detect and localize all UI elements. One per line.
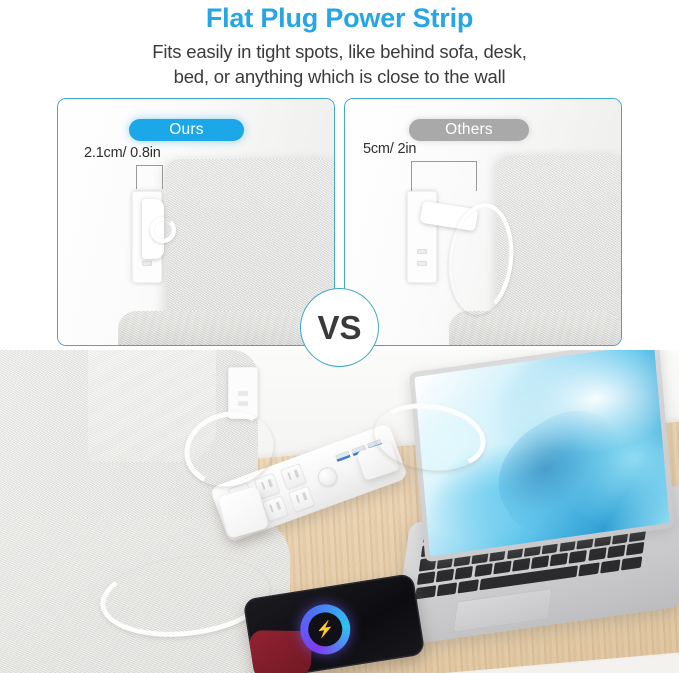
comparison-section: 2.1cm/ 0.8in Ours 5cm/ 2in Ot [0, 98, 679, 350]
usb-port [335, 451, 351, 462]
laptop-trackpad [453, 588, 552, 632]
wallpaper-swirl [479, 392, 643, 551]
outlet-socket [280, 463, 307, 490]
badge-others: Others [409, 119, 529, 141]
measure-span [136, 165, 163, 166]
comparison-panel-ours: 2.1cm/ 0.8in Ours [57, 98, 335, 346]
measure-span [411, 161, 477, 162]
sofa-seat [449, 311, 621, 345]
socket-hole [417, 261, 427, 266]
product-infographic: Flat Plug Power Strip Fits easily in tig… [0, 0, 679, 673]
sofa-backrest [497, 155, 622, 337]
subtitle-line-1: Fits easily in tight spots, like behind … [0, 34, 679, 64]
power-switch [315, 465, 339, 489]
socket-hole [142, 261, 152, 266]
outlet-socket [288, 486, 315, 513]
subtitle-line-2: bed, or anything which is close to the w… [0, 64, 679, 89]
socket-hole [238, 401, 248, 406]
measure-tick-left [411, 161, 412, 191]
measure-tick-right [476, 161, 477, 191]
badge-ours: Ours [129, 119, 244, 141]
measure-tick-right [162, 165, 163, 189]
lightning-bolt-icon: ⚡ [315, 621, 336, 639]
measure-tick-left [136, 165, 137, 189]
measurement-label-ours: 2.1cm/ 0.8in [84, 145, 161, 161]
comparison-panel-others: 5cm/ 2in Others [344, 98, 622, 346]
laptop [400, 355, 679, 625]
plug-cable [150, 217, 176, 243]
lifestyle-photo: ⚡ [0, 350, 679, 673]
vs-badge: VS [300, 288, 379, 367]
socket-hole [417, 249, 427, 254]
header: Flat Plug Power Strip Fits easily in tig… [0, 0, 679, 92]
measurement-label-others: 5cm/ 2in [363, 141, 416, 157]
page-title: Flat Plug Power Strip [0, 0, 679, 34]
socket-hole [238, 391, 248, 396]
